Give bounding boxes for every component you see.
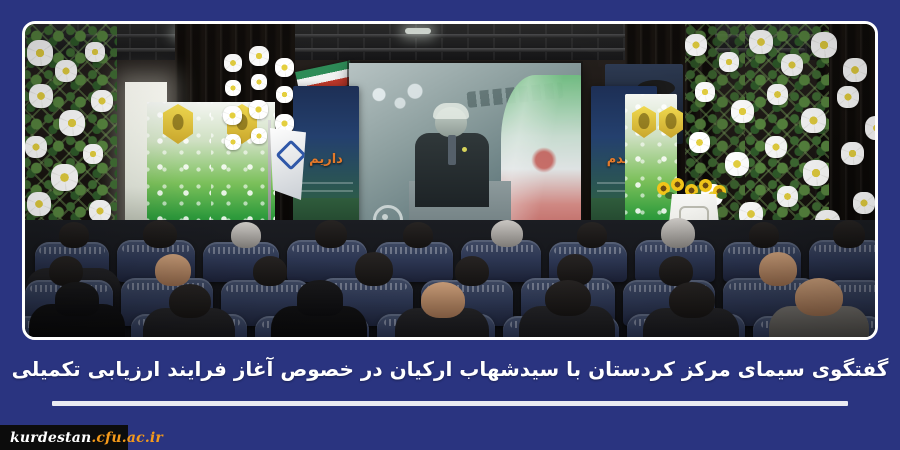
audience-head — [749, 222, 779, 248]
ceiling-light — [405, 28, 431, 34]
audience-head — [315, 220, 347, 248]
audience-head — [403, 222, 433, 248]
watermark-text: kurdestan.cfu.ac.ir — [0, 430, 163, 446]
audience-head — [169, 284, 211, 318]
audience-head — [795, 278, 843, 316]
audience-head — [759, 252, 797, 286]
white-flag — [270, 128, 306, 200]
slide-graphic — [367, 81, 427, 115]
photo-frame: داریم مقدم — [22, 21, 878, 340]
audience-head — [55, 282, 99, 316]
event-photo: داریم مقدم — [25, 24, 875, 337]
title-block: گفتگوی سیمای مرکز کردستان با سیدشهاب ارک… — [0, 346, 900, 392]
audience-head — [577, 222, 607, 248]
audience-head — [833, 220, 865, 248]
page-title: گفتگوی سیمای مرکز کردستان با سیدشهاب ارک… — [12, 357, 889, 381]
watermark-site-name: kurdestan — [10, 430, 91, 446]
news-banner: داریم مقدم — [0, 0, 900, 450]
audience-head — [59, 222, 89, 248]
audience-head — [661, 218, 695, 248]
audience-area — [25, 220, 875, 337]
site-watermark: kurdestan.cfu.ac.ir — [0, 425, 128, 450]
projection-screen — [349, 63, 581, 241]
audience-head — [669, 282, 715, 318]
audience-head — [253, 256, 287, 286]
audience-head — [421, 282, 465, 318]
audience-head — [231, 222, 261, 248]
audience-head — [455, 256, 489, 286]
audience-head — [491, 220, 523, 247]
title-underline — [52, 401, 848, 406]
audience-head — [143, 220, 177, 248]
audience-head — [545, 280, 591, 316]
audience-head — [297, 280, 343, 316]
watermark-domain-suffix: .cfu.ac.ir — [91, 430, 163, 446]
audience-head — [355, 252, 393, 286]
audience-head — [155, 254, 191, 286]
